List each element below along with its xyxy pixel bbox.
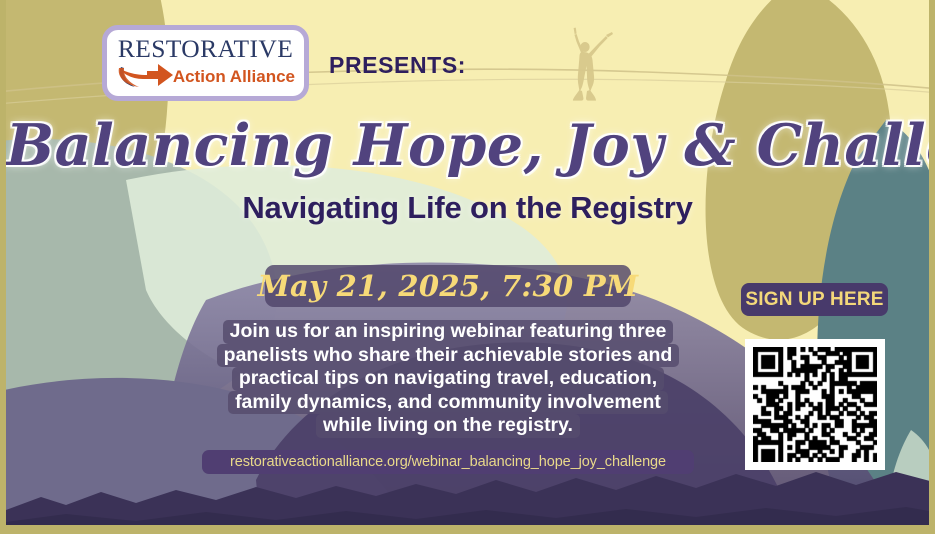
sign-up-label: SIGN UP HERE [745,289,883,311]
qr-code-icon[interactable] [745,339,885,470]
event-url-pill[interactable]: restorativeactionalliance.org/webinar_ba… [202,450,694,474]
page-title: Balancing Hope, Joy & Challenge: [6,112,929,179]
description-line: panelists who share their achievable sto… [217,344,680,368]
description-line: family dynamics, and community involveme… [228,391,668,415]
event-datetime-banner: May 21, 2025, 7:30 PM [265,265,631,307]
webinar-promo-poster: RESTORATIVE Action Alliance PRESENTS: Ba… [0,0,935,534]
page-subtitle: Navigating Life on the Registry [6,190,929,226]
logo-name-top: RESTORATIVE [107,36,304,62]
logo-name-bottom: Action Alliance [173,68,295,85]
orange-swoosh-arrow-icon [115,61,179,91]
event-datetime: May 21, 2025, 7:30 PM [258,269,639,303]
description-line: practical tips on navigating travel, edu… [232,367,664,391]
event-url: restorativeactionalliance.org/webinar_ba… [230,454,666,470]
presents-label: PRESENTS: [329,52,466,79]
event-description: Join us for an inspiring webinar featuri… [202,320,694,438]
sign-up-button[interactable]: SIGN UP HERE [741,283,888,316]
description-line: Join us for an inspiring webinar featuri… [223,320,674,344]
description-line: while living on the registry. [316,414,580,438]
restorative-action-alliance-logo[interactable]: RESTORATIVE Action Alliance [102,25,309,101]
